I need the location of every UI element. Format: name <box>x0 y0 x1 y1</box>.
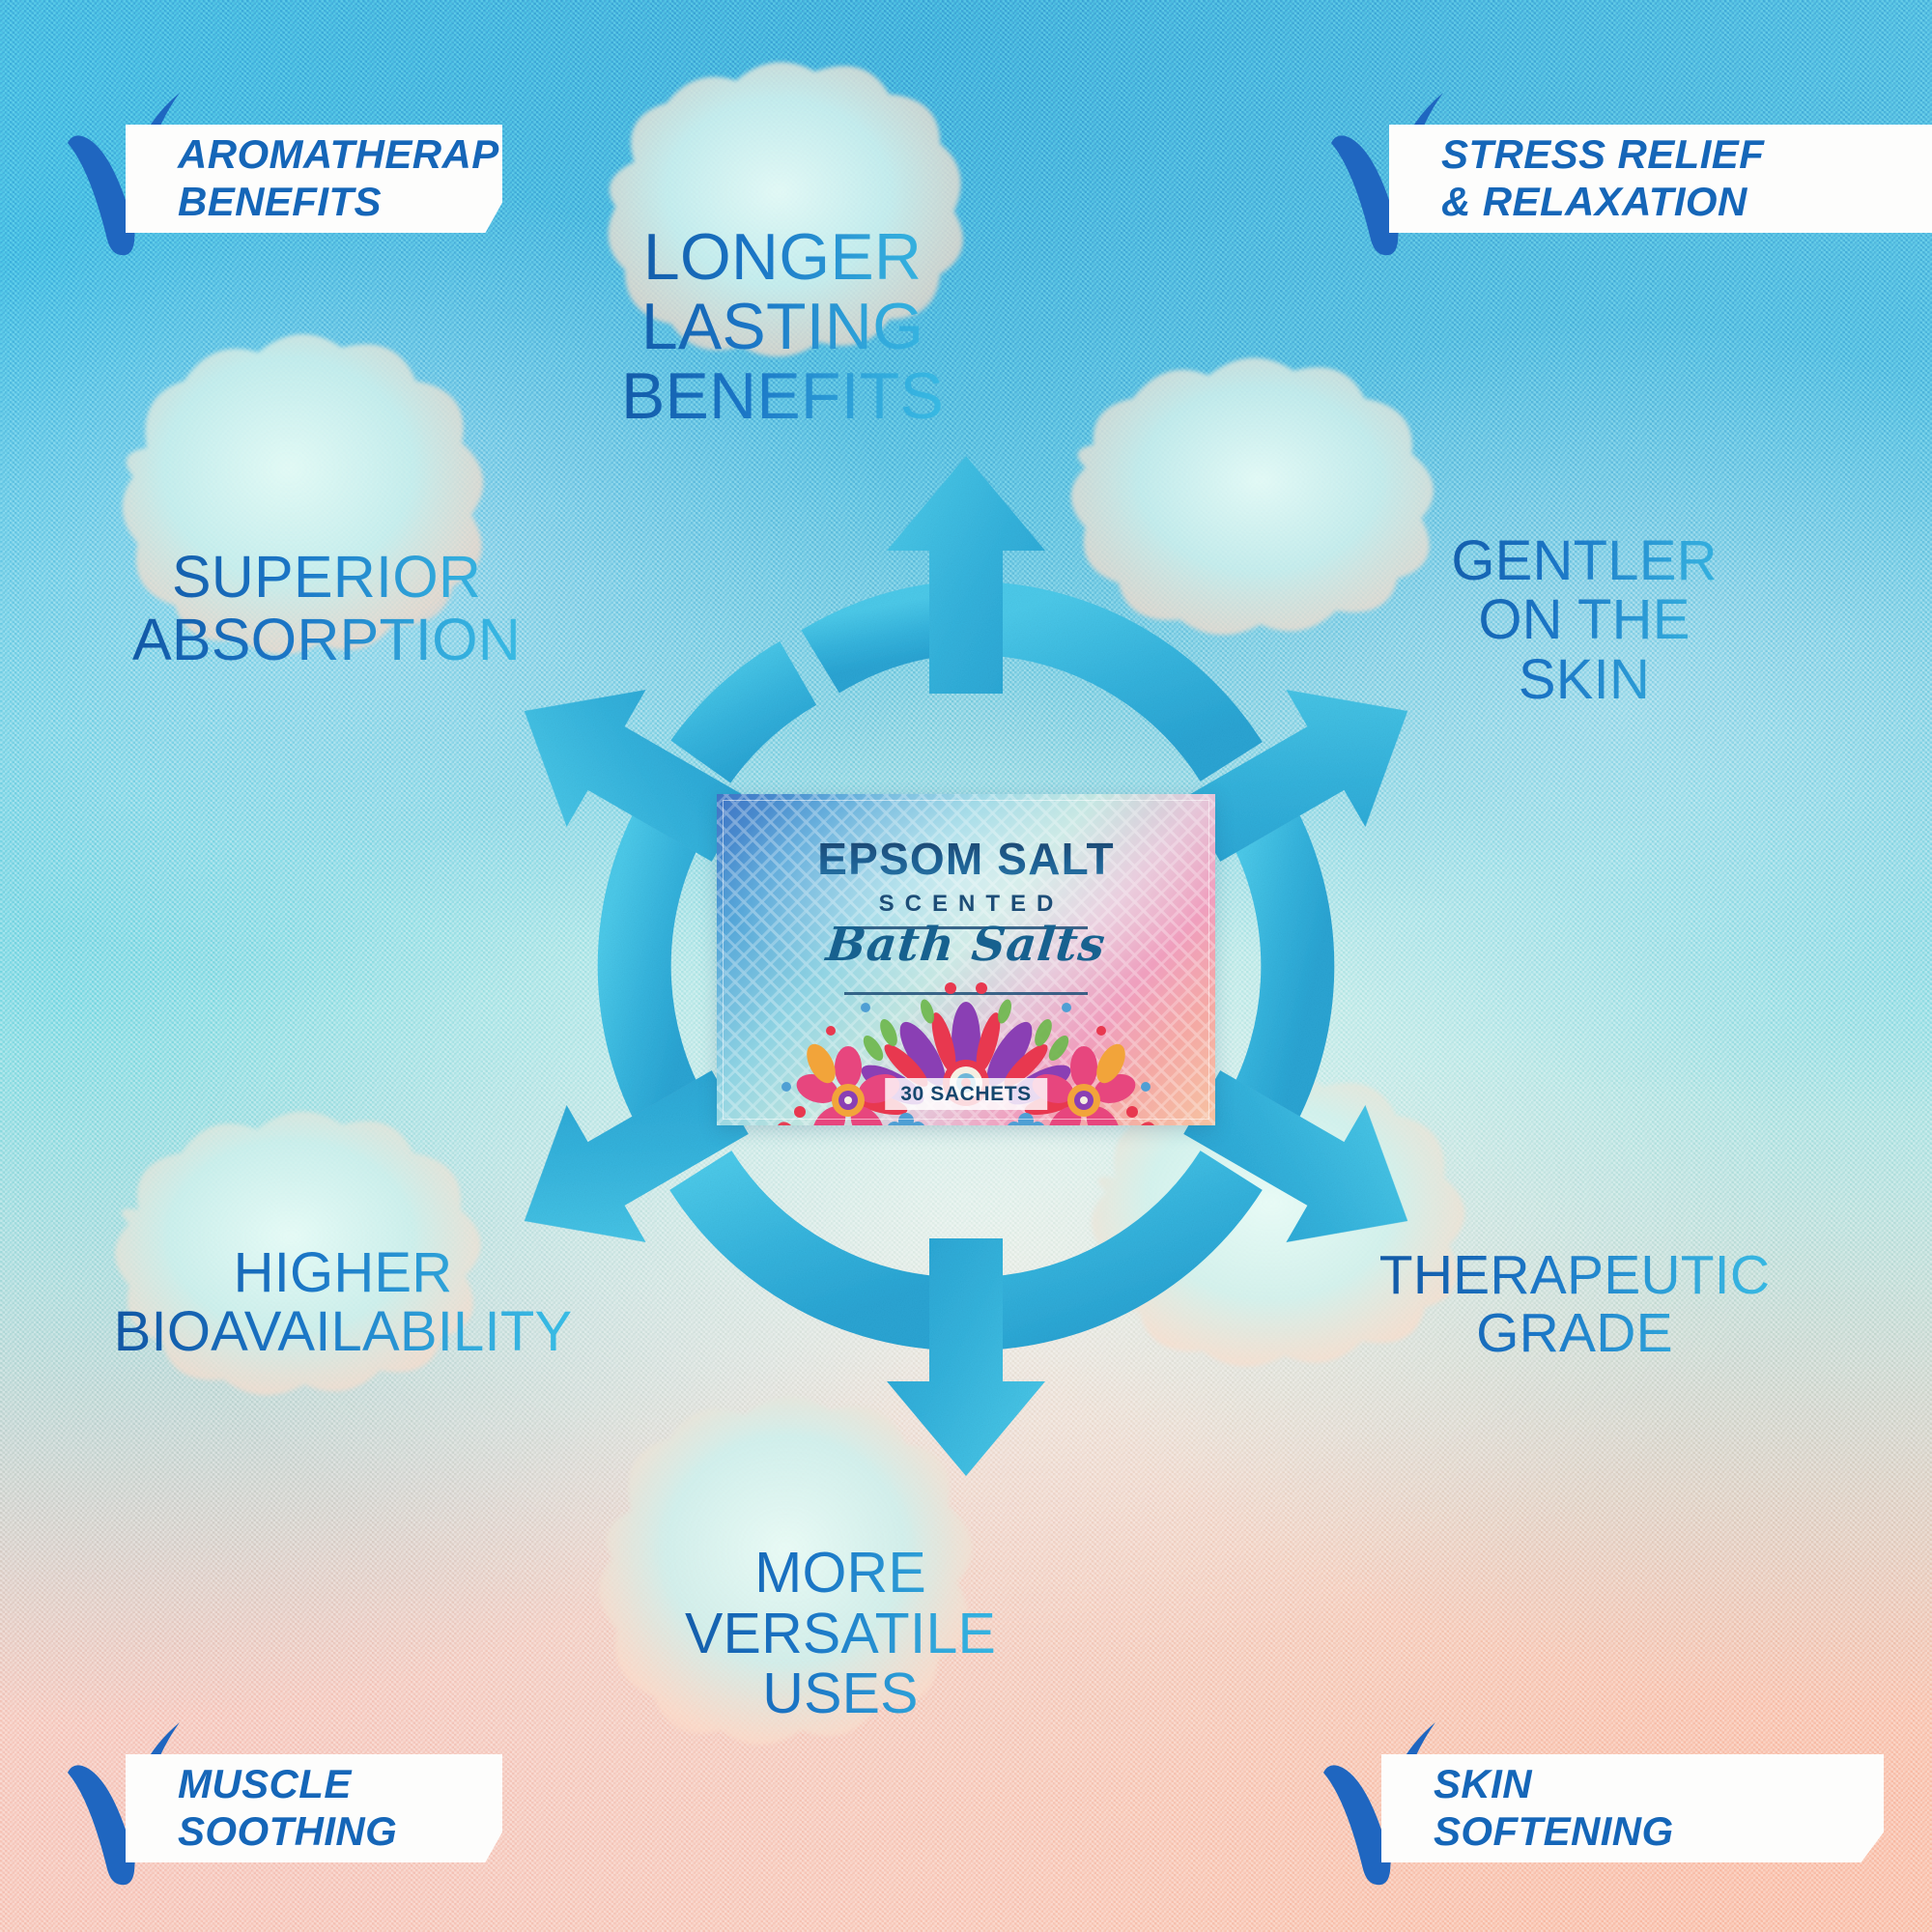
benefit-label-therapeutic-grade: THERAPEUTIC GRADE <box>1343 1246 1806 1363</box>
check-badge-label: SKIN SOFTENING <box>1434 1761 1674 1855</box>
benefit-label-superior-absorption: SUPERIOR ABSORPTION <box>104 546 549 670</box>
check-badge-skin-softening[interactable]: SKIN SOFTENING <box>1306 1712 1884 1905</box>
product-box-face: EPSOM SALT SCENTED Bath Salts <box>717 794 1215 1125</box>
check-badge-plate: SKIN SOFTENING <box>1381 1754 1884 1862</box>
product-box: EPSOM SALT SCENTED Bath Salts <box>717 794 1215 1125</box>
check-badge-stress-relief-relaxation[interactable]: STRESS RELIEF & RELAXATION <box>1314 82 1932 275</box>
check-badge-aromatherapy-benefits[interactable]: AROMATHERAPY BENEFITS <box>50 82 502 275</box>
benefit-label-longer-lasting-benefits: LONGER LASTING BENEFITS <box>594 222 971 431</box>
check-badge-label: STRESS RELIEF & RELAXATION <box>1441 131 1764 225</box>
benefit-label-higher-bioavailability: HIGHER BIOAVAILABILITY <box>97 1243 589 1362</box>
check-badge-plate: MUSCLE SOOTHING <box>126 1754 502 1862</box>
infographic-canvas: EPSOM SALT SCENTED Bath Salts <box>0 0 1932 1932</box>
product-brand-title: EPSOM SALT <box>717 833 1215 885</box>
benefit-label-gentler-on-the-skin: GENTLER ON THE SKIN <box>1391 531 1777 709</box>
check-badge-label: AROMATHERAPY BENEFITS <box>178 131 526 225</box>
check-badge-label: MUSCLE SOOTHING <box>178 1761 397 1855</box>
check-badge-plate: AROMATHERAPY BENEFITS <box>126 125 502 233</box>
product-count-badge: 30 SACHETS <box>885 1078 1047 1110</box>
product-subtitle: SCENTED <box>717 891 1215 918</box>
benefit-label-more-versatile-uses: MORE VERSATILE USES <box>638 1543 1043 1724</box>
check-badge-plate: STRESS RELIEF & RELAXATION <box>1389 125 1932 233</box>
check-badge-muscle-soothing[interactable]: MUSCLE SOOTHING <box>50 1712 502 1905</box>
